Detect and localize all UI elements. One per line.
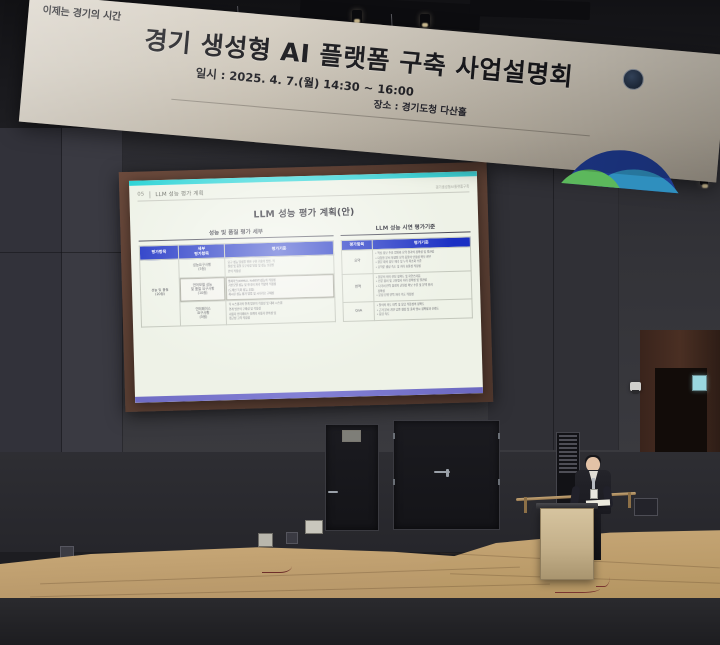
sub-item-cell: 언어모델 성능및 품질 요구사항(10점)	[179, 277, 226, 302]
projection-screen: 05 LLM 성능 평가 계획 경기생성형AI플랫폼구축 LLM 성능 평가 계…	[129, 171, 483, 403]
wall-outlet	[286, 532, 298, 544]
stage-center-double-door[interactable]	[393, 420, 500, 530]
spotlight	[420, 14, 430, 27]
slide-header: 05 LLM 성능 평가 계획 경기생성형AI플랫폼구축	[137, 181, 469, 201]
col-eval-item: 평가항목	[139, 245, 178, 260]
stage-front-edge	[0, 598, 720, 645]
criteria-cell: • 질의의 의도 파악 및 응답 적합성의 정확도 • 근거 문서 기반 답변 …	[374, 299, 473, 321]
spotlight	[352, 10, 362, 23]
door-sign	[342, 430, 361, 442]
criteria-cell: 타 시스템과의 연계 방안의 적정성 및 대외 시스템 연계 방안의 구체성 및…	[226, 298, 335, 325]
left-panel-header: 성능 및 품질 평가 세부	[138, 225, 333, 241]
wall-plate	[305, 520, 323, 534]
right-panel: LLM 성능 시연 평가기준 평가항목 평가기준 요약 • 핵심 정보 추출 범…	[340, 221, 473, 322]
panel-seam	[553, 150, 554, 450]
podium-cable	[555, 582, 600, 593]
right-panel-header: LLM 성능 시연 평가기준	[340, 221, 470, 236]
criteria-cell: • 핵심 정보 추출 범위와 요약 결과의 정확성 및 일관성 • 다양한 문서…	[372, 247, 471, 273]
item-cell-translation: 번역	[342, 273, 374, 302]
floor-cable	[262, 556, 292, 573]
criteria-cell: 벤치마크(KMMLU, KoBEST)성능의 적정성 기반모델 성능 및 한국어…	[226, 274, 335, 301]
criteria-cell: • 원문의 의미 전달 정확도 및 자연스러움 • 전문 용어 및 고유명사 처…	[373, 270, 472, 301]
left-panel: 성능 및 품질 평가 세부 평가항목 세부평가항목 평가기준 성능 및 품질(2…	[138, 225, 336, 327]
slide-section-title: LLM 성능 평가 계획	[155, 189, 204, 198]
railing-post	[524, 497, 527, 513]
slide-corner-note: 경기생성형AI플랫폼구축	[436, 183, 470, 189]
wall-panel	[62, 128, 123, 458]
presenter-badge	[590, 489, 598, 499]
slide-title: LLM 성능 평가 계획(안)	[138, 200, 470, 223]
lectern	[540, 508, 594, 580]
stage-left-door[interactable]	[325, 424, 379, 531]
col-sub-eval-item: 세부평가항목	[178, 244, 225, 260]
slide-header-divider	[149, 191, 150, 198]
sub-item-cell: 인터페이스요구사항(5점)	[180, 301, 227, 326]
door-handle[interactable]	[328, 491, 338, 493]
railing-post	[628, 492, 631, 508]
table-row: 번역 • 원문의 의미 전달 정확도 및 자연스러움 • 전문 용어 및 고유명…	[342, 270, 472, 302]
conference-hall-photo: 05 LLM 성능 평가 계획 경기생성형AI플랫폼구축 LLM 성능 평가 계…	[0, 0, 720, 645]
item-cell-summary: 요약	[341, 249, 373, 274]
table-row: QnA • 질의의 의도 파악 및 응답 적합성의 정확도 • 근거 문서 기반…	[343, 299, 472, 322]
table-row: 요약 • 핵심 정보 추출 범위와 요약 결과의 정확성 및 일관성 • 다양한…	[341, 247, 471, 274]
slide-section-number: 05	[137, 191, 144, 197]
main-category-cell: 성능 및 품질(20점)	[140, 259, 181, 327]
item-cell-qna: QnA	[343, 302, 374, 322]
exit-sign	[692, 375, 707, 391]
performance-quality-table: 평가항목 세부평가항목 평가기준 성능 및 품질(20점) 성능요구사항(5점)…	[139, 240, 336, 327]
wall-box	[634, 498, 658, 516]
presentation-slide: 05 LLM 성능 평가 계획 경기생성형AI플랫폼구축 LLM 성능 평가 계…	[129, 176, 483, 397]
door-latch[interactable]	[446, 469, 449, 477]
sub-item-cell: 성능요구사항(5점)	[178, 258, 225, 278]
wall-outlet	[258, 533, 273, 547]
llm-demo-criteria-table: 평가항목 평가기준 요약 • 핵심 정보 추출 범위와 요약 결과의 정확성 및…	[341, 236, 473, 322]
panel-seam	[61, 128, 62, 458]
wall-panel	[0, 128, 63, 458]
ceiling-camera	[630, 382, 641, 391]
